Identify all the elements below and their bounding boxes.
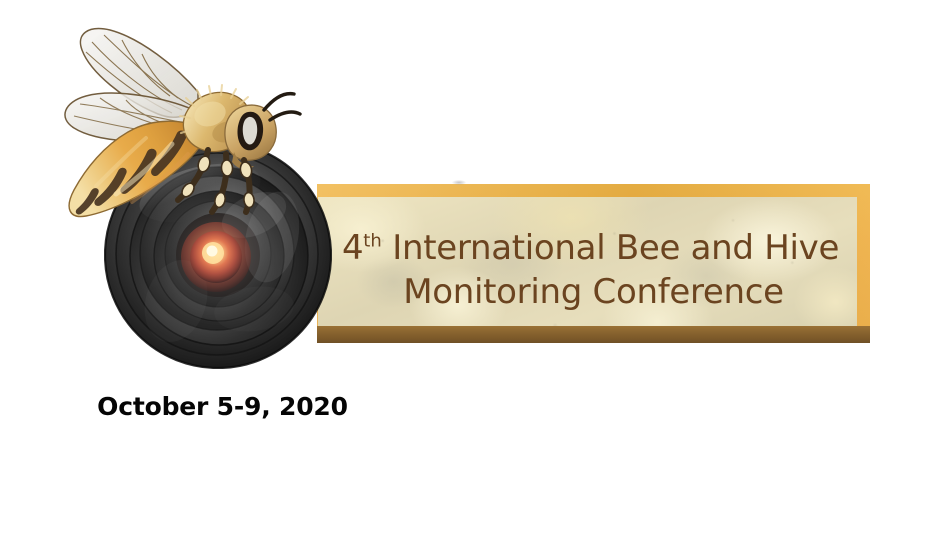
conference-date: October 5-9, 2020 <box>97 392 348 422</box>
ordinal-number: 4 <box>342 228 363 268</box>
bee-head <box>225 105 276 169</box>
honeybee-icon <box>12 14 302 244</box>
conference-date-row: October 5-9, 2020 <box>0 392 943 422</box>
ordinal-suffix: th <box>363 231 381 252</box>
banner-title-line-1: 4th International Bee and Hive <box>342 225 839 271</box>
scan-artifact-speck <box>452 180 466 185</box>
conference-title-banner: 4th International Bee and Hive Monitorin… <box>317 184 870 343</box>
bee-leg-joints <box>180 155 255 209</box>
title-line-1-rest: International Bee and Hive <box>382 228 839 268</box>
banner-title-line-2: Monitoring Conference <box>403 269 784 315</box>
banner-title-text-block: 4th International Bee and Hive Monitorin… <box>330 197 857 343</box>
logo-canvas: 4th International Bee and Hive Monitorin… <box>0 0 943 555</box>
